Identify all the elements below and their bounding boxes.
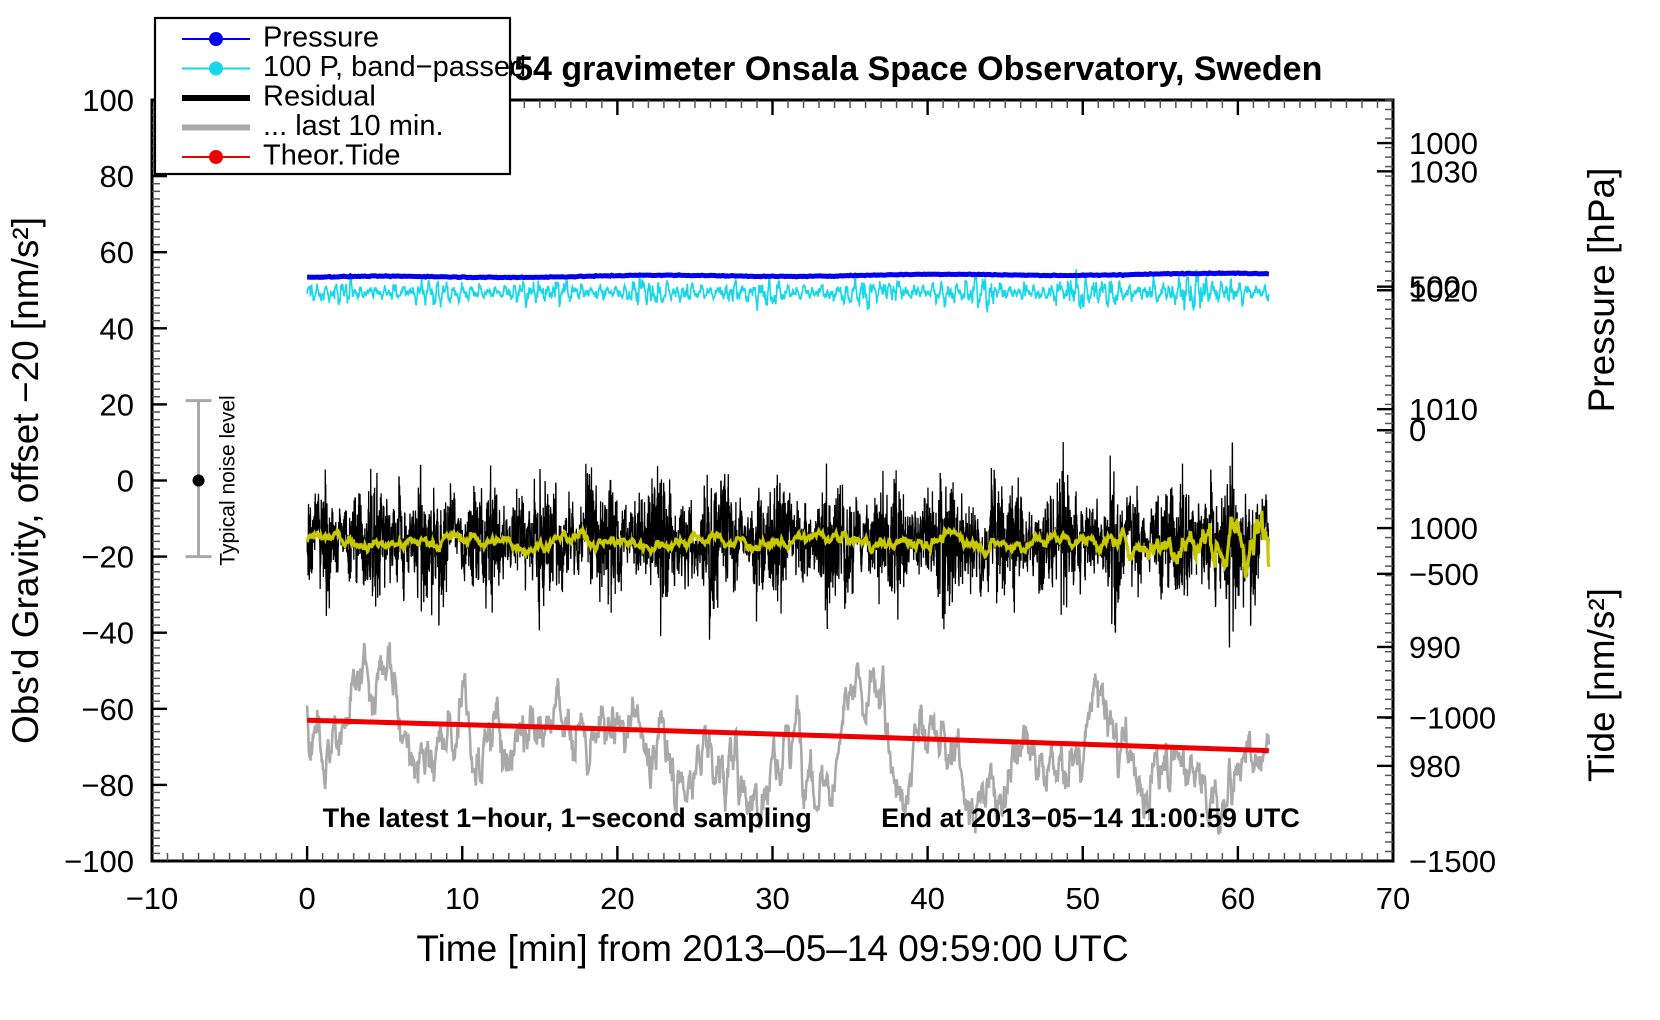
y-tick-label: 0 [117, 464, 134, 499]
tide-axis-title: Tide [nm/s²] [1581, 588, 1622, 782]
y-tick-label: −40 [81, 616, 134, 651]
x-tick-label: 0 [299, 881, 316, 916]
y-tick-label: 80 [100, 159, 134, 194]
legend-label: Theor.Tide [263, 140, 401, 172]
y-axis-title: Obs'd Gravity, offset −20 [nm/s²] [5, 217, 46, 744]
noise-level-marker: Typical noise level [186, 395, 240, 565]
legend[interactable]: Pressure100 P, band−passedResidual... la… [155, 18, 526, 174]
noise-level-label: Typical noise level [217, 395, 240, 565]
tide-tick-label: 1000 [1409, 126, 1478, 161]
tide-tick-label: 0 [1409, 413, 1426, 448]
legend-swatch-marker [209, 32, 223, 46]
x-tick-label: 70 [1376, 881, 1410, 916]
x-tick-label: 10 [445, 881, 479, 916]
legend-label: 100 P, band−passed [263, 51, 526, 83]
legend-swatch-marker [209, 62, 223, 76]
end-time-note: End at 2013−05−14 11:00:59 UTC [881, 803, 1300, 833]
tide-tick-label: 500 [1409, 270, 1461, 305]
plot-annotations: The latest 1−hour, 1−second samplingEnd … [323, 803, 1300, 833]
y-axis-left: −100−80−60−40−20020406080100Obs'd Gravit… [5, 83, 167, 879]
y-tick-label: −100 [64, 844, 134, 879]
noise-center-dot [193, 475, 205, 487]
data-series [307, 269, 1269, 834]
pressure-tick-label: 990 [1409, 630, 1461, 665]
y-tick-label: 60 [100, 235, 134, 270]
y-tick-label: 100 [82, 83, 134, 118]
legend-label: ... last 10 min. [263, 110, 444, 142]
pressure-tick-label: 1000 [1409, 511, 1478, 546]
y-tick-label: −20 [81, 540, 134, 575]
series-pressure [307, 273, 1269, 278]
x-tick-label: 30 [755, 881, 789, 916]
x-tick-label: 50 [1066, 881, 1100, 916]
legend-label: Residual [263, 81, 376, 113]
x-tick-label: −10 [126, 881, 179, 916]
gravimeter-timeseries-plot: −10010203040506070Time [min] from 2013‒0… [0, 0, 1660, 1020]
pressure-axis-title: Pressure [hPa] [1581, 168, 1622, 413]
legend-swatch-marker [209, 150, 223, 164]
x-tick-label: 20 [600, 881, 634, 916]
y-tick-label: −60 [81, 692, 134, 727]
sampling-note: The latest 1−hour, 1−second sampling [323, 803, 812, 833]
y-tick-label: 40 [100, 311, 134, 346]
y-axis-right: 9809901000101010201030−1500−1000−5000500… [1377, 100, 1622, 879]
chart-title: SCG_054 gravimeter Onsala Space Observat… [403, 50, 1323, 88]
tide-tick-label: −1000 [1409, 700, 1496, 735]
pressure-tick-label: 980 [1409, 749, 1461, 784]
tide-tick-label: −500 [1409, 557, 1479, 592]
x-tick-label: 60 [1221, 881, 1255, 916]
y-tick-label: −80 [81, 768, 134, 803]
chart-canvas: −10010203040506070Time [min] from 2013‒0… [0, 0, 1660, 1020]
y-tick-label: 20 [100, 387, 134, 422]
tide-tick-label: −1500 [1409, 844, 1496, 879]
x-axis-title: Time [min] from 2013‒05‒14 09:59:00 UTC [416, 928, 1128, 969]
x-tick-label: 40 [910, 881, 944, 916]
legend-label: Pressure [263, 22, 379, 54]
